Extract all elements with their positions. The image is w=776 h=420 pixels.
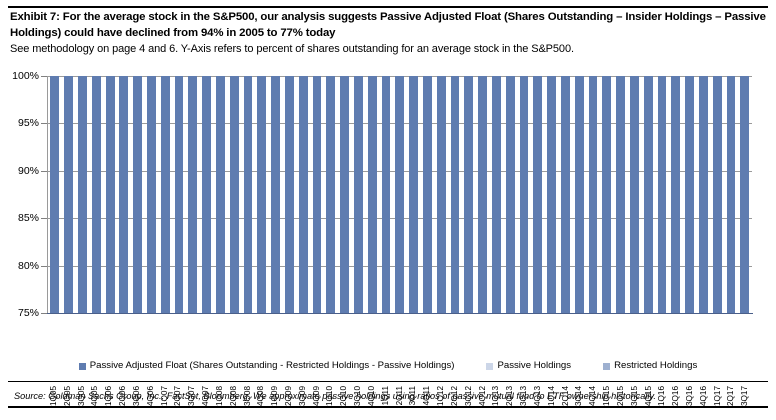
stacked-bar[interactable] bbox=[644, 76, 653, 313]
x-axis-tick: 3Q06 bbox=[130, 384, 144, 420]
legend-item[interactable]: Passive Holdings bbox=[486, 361, 571, 371]
x-axis-tick: 4Q15 bbox=[642, 384, 656, 420]
bar-segment-passive-adjusted-float bbox=[64, 76, 73, 313]
bar-column[interactable] bbox=[572, 76, 586, 313]
x-axis-tick: 1Q13 bbox=[490, 384, 504, 420]
x-axis-labels: 1Q052Q053Q054Q051Q062Q063Q064Q061Q072Q07… bbox=[47, 384, 752, 420]
stacked-bar[interactable] bbox=[561, 76, 570, 313]
y-axis-tick-label: 100% bbox=[12, 71, 39, 81]
bar-column[interactable] bbox=[738, 76, 752, 313]
stacked-bar[interactable] bbox=[92, 76, 101, 313]
bar-column[interactable] bbox=[545, 76, 559, 313]
bar-column[interactable] bbox=[48, 76, 62, 313]
plot-region bbox=[47, 76, 752, 313]
bar-segment-passive-adjusted-float bbox=[340, 76, 349, 313]
bar-column[interactable] bbox=[490, 76, 504, 313]
bar-segment-passive-adjusted-float bbox=[92, 76, 101, 313]
y-axis-tick-label: 90% bbox=[18, 166, 39, 176]
x-axis-tick: 2Q16 bbox=[669, 384, 683, 420]
bar-segment-passive-adjusted-float bbox=[506, 76, 515, 313]
bar-column[interactable] bbox=[503, 76, 517, 313]
stacked-bar[interactable] bbox=[382, 76, 391, 313]
bar-column[interactable] bbox=[269, 76, 283, 313]
x-axis-tick: 2Q15 bbox=[614, 384, 628, 420]
source-note: Source: Goldman Sachs Group, Inc., FactS… bbox=[14, 391, 656, 402]
x-axis-tick: 4Q14 bbox=[586, 384, 600, 420]
bar-segment-passive-adjusted-float bbox=[520, 76, 529, 313]
bar-segment-passive-adjusted-float bbox=[409, 76, 418, 313]
bar-segment-passive-adjusted-float bbox=[685, 76, 694, 313]
stacked-bar[interactable] bbox=[147, 76, 156, 313]
x-axis-tick: 4Q05 bbox=[88, 384, 102, 420]
bar-segment-passive-adjusted-float bbox=[230, 76, 239, 313]
bar-column[interactable] bbox=[462, 76, 476, 313]
stacked-bar[interactable] bbox=[409, 76, 418, 313]
stacked-bar[interactable] bbox=[464, 76, 473, 313]
stacked-bar[interactable] bbox=[602, 76, 611, 313]
x-axis-tick: 1Q08 bbox=[213, 384, 227, 420]
bar-segment-passive-adjusted-float bbox=[658, 76, 667, 313]
bar-column[interactable] bbox=[600, 76, 614, 313]
stacked-bar[interactable] bbox=[713, 76, 722, 313]
top-rule bbox=[8, 6, 768, 8]
x-axis-tick: 2Q11 bbox=[393, 384, 407, 420]
y-axis-tick-label: 75% bbox=[18, 308, 39, 318]
bar-segment-passive-adjusted-float bbox=[395, 76, 404, 313]
footer-rule bbox=[8, 406, 768, 408]
y-axis-tick-label: 80% bbox=[18, 261, 39, 271]
legend-label: Restricted Holdings bbox=[614, 361, 697, 371]
bar-column[interactable] bbox=[324, 76, 338, 313]
bar-column[interactable] bbox=[407, 76, 421, 313]
bar-column[interactable] bbox=[531, 76, 545, 313]
bar-column[interactable] bbox=[365, 76, 379, 313]
bar-segment-passive-adjusted-float bbox=[589, 76, 598, 313]
bar-segment-passive-adjusted-float bbox=[78, 76, 87, 313]
stacked-bar[interactable] bbox=[64, 76, 73, 313]
x-axis-tick-label: 1Q17 bbox=[714, 386, 722, 406]
x-axis-tick-label: 2Q17 bbox=[727, 386, 735, 406]
bar-column[interactable] bbox=[227, 76, 241, 313]
stacked-bar[interactable] bbox=[437, 76, 446, 313]
x-axis-tick: 2Q13 bbox=[503, 384, 517, 420]
bar-column[interactable] bbox=[669, 76, 683, 313]
x-axis-tick: 1Q15 bbox=[600, 384, 614, 420]
stacked-bar[interactable] bbox=[78, 76, 87, 313]
bar-segment-passive-adjusted-float bbox=[533, 76, 542, 313]
x-axis-tick: 3Q09 bbox=[296, 384, 310, 420]
bar-segment-passive-adjusted-float bbox=[616, 76, 625, 313]
bar-column[interactable] bbox=[200, 76, 214, 313]
bar-segment-passive-adjusted-float bbox=[368, 76, 377, 313]
stacked-bar[interactable] bbox=[630, 76, 639, 313]
bar-segment-passive-adjusted-float bbox=[326, 76, 335, 313]
bar-column[interactable] bbox=[158, 76, 172, 313]
bar-segment-passive-adjusted-float bbox=[671, 76, 680, 313]
x-axis-tick-label: 3Q17 bbox=[741, 386, 749, 406]
stacked-bar[interactable] bbox=[658, 76, 667, 313]
page-subtitle: See methodology on page 4 and 6. Y-Axis … bbox=[10, 42, 766, 57]
bar-segment-passive-adjusted-float bbox=[713, 76, 722, 313]
x-axis-tick: 3Q07 bbox=[185, 384, 199, 420]
stacked-bar[interactable] bbox=[699, 76, 708, 313]
y-axis-tick-label: 85% bbox=[18, 213, 39, 223]
x-axis-tick: 1Q11 bbox=[379, 384, 393, 420]
x-axis-tick: 4Q06 bbox=[144, 384, 158, 420]
x-axis-tick: 2Q12 bbox=[448, 384, 462, 420]
stacked-bar[interactable] bbox=[520, 76, 529, 313]
bar-column[interactable] bbox=[655, 76, 669, 313]
x-axis-tick-label: 3Q16 bbox=[686, 386, 694, 406]
bar-segment-passive-adjusted-float bbox=[271, 76, 280, 313]
chart-area: 100%95%90%85%80%75% 1Q052Q053Q054Q051Q06… bbox=[0, 70, 776, 320]
x-axis-tick: 4Q10 bbox=[365, 384, 379, 420]
bar-column[interactable] bbox=[145, 76, 159, 313]
legend-swatch-icon bbox=[79, 363, 86, 370]
legend-item[interactable]: Passive Adjusted Float (Shares Outstandi… bbox=[79, 361, 455, 371]
bar-column[interactable] bbox=[172, 76, 186, 313]
bar-segment-passive-adjusted-float bbox=[382, 76, 391, 313]
bar-segment-passive-adjusted-float bbox=[464, 76, 473, 313]
stacked-bar[interactable] bbox=[244, 76, 253, 313]
stacked-bar[interactable] bbox=[133, 76, 142, 313]
bar-column[interactable] bbox=[255, 76, 269, 313]
x-axis-tick: 4Q09 bbox=[310, 384, 324, 420]
stacked-bar[interactable] bbox=[492, 76, 501, 313]
x-axis-tick-label: 1Q16 bbox=[658, 386, 666, 406]
x-axis-tick: 2Q10 bbox=[337, 384, 351, 420]
bar-segment-passive-adjusted-float bbox=[188, 76, 197, 313]
bar-column[interactable] bbox=[241, 76, 255, 313]
stacked-bar[interactable] bbox=[671, 76, 680, 313]
stacked-bar[interactable] bbox=[547, 76, 556, 313]
stacked-bar[interactable] bbox=[216, 76, 225, 313]
bar-column[interactable] bbox=[310, 76, 324, 313]
bar-column[interactable] bbox=[89, 76, 103, 313]
stacked-bar[interactable] bbox=[313, 76, 322, 313]
bar-segment-passive-adjusted-float bbox=[630, 76, 639, 313]
x-axis-tick: 3Q05 bbox=[75, 384, 89, 420]
x-axis-tick: 1Q05 bbox=[47, 384, 61, 420]
bar-column[interactable] bbox=[476, 76, 490, 313]
stacked-bar[interactable] bbox=[50, 76, 59, 313]
bar-column[interactable] bbox=[586, 76, 600, 313]
bar-column[interactable] bbox=[283, 76, 297, 313]
bar-segment-passive-adjusted-float bbox=[216, 76, 225, 313]
bar-segment-passive-adjusted-float bbox=[175, 76, 184, 313]
bar-column[interactable] bbox=[724, 76, 738, 313]
x-axis-tick: 3Q15 bbox=[628, 384, 642, 420]
bar-segment-passive-adjusted-float bbox=[437, 76, 446, 313]
bar-segment-passive-adjusted-float bbox=[423, 76, 432, 313]
x-axis-tick: 2Q08 bbox=[227, 384, 241, 420]
x-axis-tick: 2Q14 bbox=[559, 384, 573, 420]
x-axis-tick: 3Q14 bbox=[572, 384, 586, 420]
bar-column[interactable] bbox=[393, 76, 407, 313]
bar-column[interactable] bbox=[683, 76, 697, 313]
x-axis-tick: 1Q10 bbox=[324, 384, 338, 420]
bar-column[interactable] bbox=[379, 76, 393, 313]
stacked-bar[interactable] bbox=[395, 76, 404, 313]
bar-column[interactable] bbox=[62, 76, 76, 313]
bar-segment-passive-adjusted-float bbox=[547, 76, 556, 313]
bar-segment-passive-adjusted-float bbox=[285, 76, 294, 313]
bar-segment-passive-adjusted-float bbox=[602, 76, 611, 313]
legend-label: Passive Holdings bbox=[497, 361, 571, 371]
stacked-bar[interactable] bbox=[478, 76, 487, 313]
x-axis-tick: 3Q12 bbox=[462, 384, 476, 420]
bar-column[interactable] bbox=[421, 76, 435, 313]
x-axis-tick: 2Q06 bbox=[116, 384, 130, 420]
bottom-rule bbox=[8, 381, 768, 382]
bar-segment-passive-adjusted-float bbox=[492, 76, 501, 313]
bar-column[interactable] bbox=[103, 76, 117, 313]
x-axis-tick: 3Q08 bbox=[241, 384, 255, 420]
x-axis-tick: 2Q05 bbox=[61, 384, 75, 420]
x-axis-tick: 4Q07 bbox=[199, 384, 213, 420]
x-axis-tick: 1Q17 bbox=[711, 384, 725, 420]
bar-column[interactable] bbox=[117, 76, 131, 313]
bar-column[interactable] bbox=[76, 76, 90, 313]
bar-column[interactable] bbox=[614, 76, 628, 313]
bar-segment-passive-adjusted-float bbox=[133, 76, 142, 313]
bar-segment-passive-adjusted-float bbox=[575, 76, 584, 313]
x-axis-tick: 2Q09 bbox=[282, 384, 296, 420]
x-axis-line bbox=[47, 313, 753, 314]
stacked-bar[interactable] bbox=[340, 76, 349, 313]
bar-column[interactable] bbox=[641, 76, 655, 313]
x-axis-tick: 4Q16 bbox=[697, 384, 711, 420]
stacked-bar[interactable] bbox=[271, 76, 280, 313]
x-axis-tick: 4Q13 bbox=[531, 384, 545, 420]
bar-segment-passive-adjusted-float bbox=[727, 76, 736, 313]
stacked-bar[interactable] bbox=[575, 76, 584, 313]
x-axis-tick: 1Q16 bbox=[655, 384, 669, 420]
bar-column[interactable] bbox=[710, 76, 724, 313]
stacked-bar[interactable] bbox=[368, 76, 377, 313]
stacked-bar[interactable] bbox=[257, 76, 266, 313]
stacked-bar[interactable] bbox=[202, 76, 211, 313]
bar-column[interactable] bbox=[696, 76, 710, 313]
stacked-bar[interactable] bbox=[230, 76, 239, 313]
bar-column[interactable] bbox=[296, 76, 310, 313]
x-axis-tick: 4Q12 bbox=[476, 384, 490, 420]
bar-column[interactable] bbox=[131, 76, 145, 313]
stacked-bar[interactable] bbox=[161, 76, 170, 313]
stacked-bar[interactable] bbox=[285, 76, 294, 313]
stacked-bar[interactable] bbox=[533, 76, 542, 313]
bar-column[interactable] bbox=[214, 76, 228, 313]
bar-segment-passive-adjusted-float bbox=[147, 76, 156, 313]
x-axis-tick-label: 4Q16 bbox=[700, 386, 708, 406]
stacked-bar[interactable] bbox=[506, 76, 515, 313]
stacked-bar[interactable] bbox=[299, 76, 308, 313]
x-axis-tick: 3Q17 bbox=[738, 384, 752, 420]
bar-segment-passive-adjusted-float bbox=[299, 76, 308, 313]
stacked-bar[interactable] bbox=[740, 76, 749, 313]
page-title: Exhibit 7: For the average stock in the … bbox=[10, 10, 766, 41]
bar-segment-passive-adjusted-float bbox=[644, 76, 653, 313]
bar-segment-passive-adjusted-float bbox=[478, 76, 487, 313]
x-axis-tick: 4Q11 bbox=[420, 384, 434, 420]
x-axis-tick: 2Q17 bbox=[725, 384, 739, 420]
stacked-bar[interactable] bbox=[589, 76, 598, 313]
stacked-bar[interactable] bbox=[188, 76, 197, 313]
bar-segment-passive-adjusted-float bbox=[699, 76, 708, 313]
stacked-bar[interactable] bbox=[423, 76, 432, 313]
bar-segment-passive-adjusted-float bbox=[119, 76, 128, 313]
bar-column[interactable] bbox=[338, 76, 352, 313]
stacked-bar[interactable] bbox=[354, 76, 363, 313]
bar-segment-passive-adjusted-float bbox=[257, 76, 266, 313]
bar-column[interactable] bbox=[517, 76, 531, 313]
exhibit-header: Exhibit 7: For the average stock in the … bbox=[10, 10, 766, 57]
bar-segment-passive-adjusted-float bbox=[202, 76, 211, 313]
stacked-bar[interactable] bbox=[119, 76, 128, 313]
x-axis-tick: 1Q09 bbox=[268, 384, 282, 420]
bar-segment-passive-adjusted-float bbox=[354, 76, 363, 313]
bar-column[interactable] bbox=[448, 76, 462, 313]
y-axis: 100%95%90%85%80%75% bbox=[0, 70, 47, 313]
x-axis-tick: 1Q14 bbox=[545, 384, 559, 420]
x-axis-tick: 1Q06 bbox=[102, 384, 116, 420]
bar-column[interactable] bbox=[352, 76, 366, 313]
bar-column[interactable] bbox=[186, 76, 200, 313]
bar-column[interactable] bbox=[434, 76, 448, 313]
bar-column[interactable] bbox=[558, 76, 572, 313]
stacked-bar[interactable] bbox=[175, 76, 184, 313]
stacked-bar[interactable] bbox=[451, 76, 460, 313]
x-axis-tick: 4Q08 bbox=[254, 384, 268, 420]
x-axis-tick: 3Q11 bbox=[407, 384, 421, 420]
legend-label: Passive Adjusted Float (Shares Outstandi… bbox=[90, 361, 455, 371]
bar-segment-passive-adjusted-float bbox=[161, 76, 170, 313]
stacked-bar[interactable] bbox=[326, 76, 335, 313]
legend-swatch-icon bbox=[603, 363, 610, 370]
chart-legend: Passive Adjusted Float (Shares Outstandi… bbox=[0, 358, 776, 374]
bar-series-group bbox=[48, 76, 752, 313]
bar-segment-passive-adjusted-float bbox=[50, 76, 59, 313]
exhibit-container: Exhibit 7: For the average stock in the … bbox=[0, 0, 776, 412]
x-axis-tick: 1Q12 bbox=[434, 384, 448, 420]
x-axis-tick: 3Q16 bbox=[683, 384, 697, 420]
bar-segment-passive-adjusted-float bbox=[106, 76, 115, 313]
x-axis-tick: 3Q10 bbox=[351, 384, 365, 420]
legend-swatch-icon bbox=[486, 363, 493, 370]
bar-segment-passive-adjusted-float bbox=[313, 76, 322, 313]
bar-segment-passive-adjusted-float bbox=[451, 76, 460, 313]
bar-segment-passive-adjusted-float bbox=[561, 76, 570, 313]
x-axis-tick: 1Q07 bbox=[158, 384, 172, 420]
stacked-bar[interactable] bbox=[106, 76, 115, 313]
x-axis-tick-label: 2Q16 bbox=[672, 386, 680, 406]
y-axis-tick-label: 95% bbox=[18, 118, 39, 128]
bar-segment-passive-adjusted-float bbox=[740, 76, 749, 313]
x-axis-tick: 3Q13 bbox=[517, 384, 531, 420]
stacked-bar[interactable] bbox=[616, 76, 625, 313]
stacked-bar[interactable] bbox=[727, 76, 736, 313]
stacked-bar[interactable] bbox=[685, 76, 694, 313]
x-axis-tick: 2Q07 bbox=[171, 384, 185, 420]
legend-item[interactable]: Restricted Holdings bbox=[603, 361, 697, 371]
bar-segment-passive-adjusted-float bbox=[244, 76, 253, 313]
bar-column[interactable] bbox=[627, 76, 641, 313]
